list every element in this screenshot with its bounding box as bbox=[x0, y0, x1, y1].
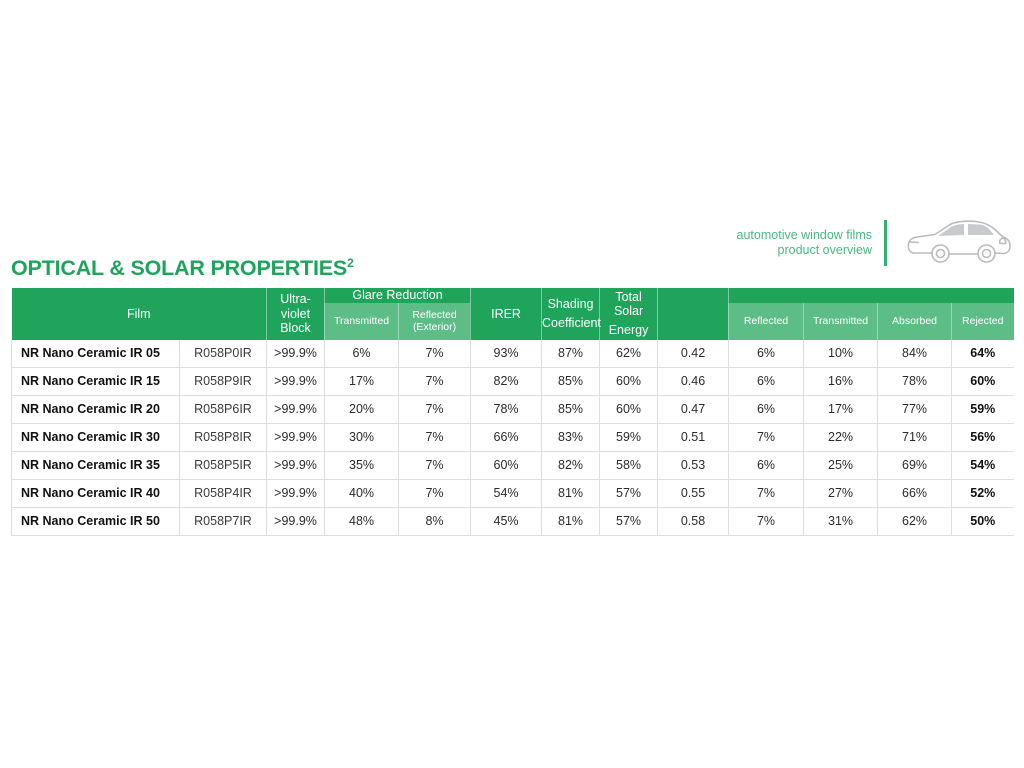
cell-tse-reflected: 7% bbox=[729, 507, 804, 535]
subheader-vl-reflected-exterior-label: Reflected (Exterior) bbox=[412, 309, 456, 334]
header-glare-reduction: IRER bbox=[471, 288, 542, 340]
cell-shading-coefficient: 0.42 bbox=[658, 340, 729, 368]
subheader-vl-reflected-exterior: Reflected (Exterior) bbox=[399, 303, 471, 340]
cell-vl-transmitted: 48% bbox=[325, 507, 399, 535]
cell-tse-rejected: 54% bbox=[952, 451, 1014, 479]
header-sirr-label: Shading Coefficient bbox=[542, 297, 601, 330]
cell-tse-rejected: 64% bbox=[952, 340, 1014, 368]
cell-uv-block: >99.9% bbox=[267, 507, 325, 535]
cell-uv-block: >99.9% bbox=[267, 479, 325, 507]
cell-tse-transmitted: 17% bbox=[804, 395, 878, 423]
cell-film-name: NR Nano Ceramic IR 20 bbox=[12, 395, 180, 423]
header-total-solar-energy bbox=[729, 288, 1014, 303]
cell-vl-transmitted: 30% bbox=[325, 423, 399, 451]
cell-tse-reflected: 6% bbox=[729, 340, 804, 368]
cell-film-name: NR Nano Ceramic IR 05 bbox=[12, 340, 180, 368]
cell-glare-reduction: 82% bbox=[471, 367, 542, 395]
cell-irer: 60% bbox=[600, 367, 658, 395]
table-row: NR Nano Ceramic IR 50R058P7IR>99.9%48%8%… bbox=[12, 507, 1014, 535]
cell-vl-reflected: 7% bbox=[399, 340, 471, 368]
table-header-group-row: Film Ultra- violet Block Glare Reduction… bbox=[12, 288, 1014, 303]
cell-vl-reflected: 7% bbox=[399, 451, 471, 479]
cell-tse-rejected: 50% bbox=[952, 507, 1014, 535]
table-body: NR Nano Ceramic IR 05R058P0IR>99.9%6%7%9… bbox=[12, 340, 1014, 536]
cell-film-name: NR Nano Ceramic IR 50 bbox=[12, 507, 180, 535]
cell-vl-reflected: 8% bbox=[399, 507, 471, 535]
cell-sirr: 85% bbox=[542, 367, 600, 395]
cell-vl-transmitted: 17% bbox=[325, 367, 399, 395]
table-row: NR Nano Ceramic IR 05R058P0IR>99.9%6%7%9… bbox=[12, 340, 1014, 368]
cell-shading-coefficient: 0.47 bbox=[658, 395, 729, 423]
cell-uv-block: >99.9% bbox=[267, 395, 325, 423]
cell-tse-transmitted: 22% bbox=[804, 423, 878, 451]
cell-shading-coefficient: 0.55 bbox=[658, 479, 729, 507]
cell-part-number: R058P5IR bbox=[180, 451, 267, 479]
cell-tse-absorbed: 69% bbox=[878, 451, 952, 479]
cell-tse-transmitted: 25% bbox=[804, 451, 878, 479]
cell-uv-block: >99.9% bbox=[267, 340, 325, 368]
brand-tagline-line2: product overview bbox=[714, 243, 872, 258]
brand-tagline-line1: automotive window films bbox=[714, 228, 872, 243]
cell-sirr: 87% bbox=[542, 340, 600, 368]
cell-uv-block: >99.9% bbox=[267, 423, 325, 451]
header-shading-coefficient bbox=[658, 288, 729, 340]
table-row: NR Nano Ceramic IR 20R058P6IR>99.9%20%7%… bbox=[12, 395, 1014, 423]
cell-irer: 58% bbox=[600, 451, 658, 479]
cell-uv-block: >99.9% bbox=[267, 451, 325, 479]
header-irer-label: Total Solar Energy bbox=[609, 290, 649, 337]
table-row: NR Nano Ceramic IR 30R058P8IR>99.9%30%7%… bbox=[12, 423, 1014, 451]
cell-tse-absorbed: 77% bbox=[878, 395, 952, 423]
table-row: NR Nano Ceramic IR 40R058P4IR>99.9%40%7%… bbox=[12, 479, 1014, 507]
cell-shading-coefficient: 0.58 bbox=[658, 507, 729, 535]
cell-uv-block: >99.9% bbox=[267, 367, 325, 395]
cell-tse-reflected: 6% bbox=[729, 367, 804, 395]
cell-tse-transmitted: 10% bbox=[804, 340, 878, 368]
header-visible-light: Glare Reduction bbox=[325, 288, 471, 303]
cell-glare-reduction: 93% bbox=[471, 340, 542, 368]
cell-film-name: NR Nano Ceramic IR 40 bbox=[12, 479, 180, 507]
cell-sirr: 81% bbox=[542, 479, 600, 507]
cell-tse-absorbed: 78% bbox=[878, 367, 952, 395]
page-title-superscript: 2 bbox=[347, 256, 353, 270]
subheader-tse-reflected: Reflected bbox=[729, 303, 804, 340]
header-uv-block-label: Ultra- violet Block bbox=[280, 292, 311, 335]
header-sirr: Shading Coefficient bbox=[542, 288, 600, 340]
cell-irer: 59% bbox=[600, 423, 658, 451]
cell-glare-reduction: 60% bbox=[471, 451, 542, 479]
cell-sirr: 82% bbox=[542, 451, 600, 479]
cell-tse-reflected: 6% bbox=[729, 395, 804, 423]
cell-part-number: R058P9IR bbox=[180, 367, 267, 395]
cell-tse-transmitted: 27% bbox=[804, 479, 878, 507]
cell-tse-absorbed: 71% bbox=[878, 423, 952, 451]
cell-vl-reflected: 7% bbox=[399, 423, 471, 451]
car-side-icon bbox=[905, 216, 1013, 271]
cell-part-number: R058P7IR bbox=[180, 507, 267, 535]
cell-irer: 57% bbox=[600, 479, 658, 507]
cell-tse-rejected: 56% bbox=[952, 423, 1014, 451]
cell-tse-transmitted: 31% bbox=[804, 507, 878, 535]
cell-tse-reflected: 6% bbox=[729, 451, 804, 479]
cell-glare-reduction: 78% bbox=[471, 395, 542, 423]
cell-part-number: R058P6IR bbox=[180, 395, 267, 423]
cell-part-number: R058P8IR bbox=[180, 423, 267, 451]
cell-film-name: NR Nano Ceramic IR 35 bbox=[12, 451, 180, 479]
cell-shading-coefficient: 0.46 bbox=[658, 367, 729, 395]
header-uv-block: Ultra- violet Block bbox=[267, 288, 325, 340]
subheader-tse-transmitted: Transmitted bbox=[804, 303, 878, 340]
header-irer: Total Solar Energy bbox=[600, 288, 658, 340]
cell-part-number: R058P0IR bbox=[180, 340, 267, 368]
cell-tse-rejected: 52% bbox=[952, 479, 1014, 507]
cell-vl-transmitted: 35% bbox=[325, 451, 399, 479]
subheader-tse-rejected: Rejected bbox=[952, 303, 1014, 340]
cell-vl-reflected: 7% bbox=[399, 367, 471, 395]
brand-tagline: automotive window films product overview bbox=[714, 228, 884, 258]
cell-tse-transmitted: 16% bbox=[804, 367, 878, 395]
cell-irer: 57% bbox=[600, 507, 658, 535]
page-title-text: OPTICAL & SOLAR PROPERTIES bbox=[11, 256, 347, 280]
cell-sirr: 85% bbox=[542, 395, 600, 423]
cell-irer: 62% bbox=[600, 340, 658, 368]
table-row: NR Nano Ceramic IR 15R058P9IR>99.9%17%7%… bbox=[12, 367, 1014, 395]
brand-divider bbox=[884, 220, 887, 266]
cell-film-name: NR Nano Ceramic IR 15 bbox=[12, 367, 180, 395]
cell-vl-reflected: 7% bbox=[399, 395, 471, 423]
cell-tse-absorbed: 62% bbox=[878, 507, 952, 535]
optical-solar-properties-table: Film Ultra- violet Block Glare Reduction… bbox=[11, 288, 1014, 536]
page-title: OPTICAL & SOLAR PROPERTIES2 bbox=[11, 256, 354, 281]
cell-tse-reflected: 7% bbox=[729, 423, 804, 451]
cell-glare-reduction: 54% bbox=[471, 479, 542, 507]
cell-irer: 60% bbox=[600, 395, 658, 423]
cell-vl-transmitted: 6% bbox=[325, 340, 399, 368]
cell-tse-absorbed: 84% bbox=[878, 340, 952, 368]
cell-vl-reflected: 7% bbox=[399, 479, 471, 507]
cell-sirr: 83% bbox=[542, 423, 600, 451]
subheader-tse-absorbed: Absorbed bbox=[878, 303, 952, 340]
brand-block: automotive window films product overview bbox=[714, 214, 1014, 272]
cell-shading-coefficient: 0.53 bbox=[658, 451, 729, 479]
table-row: NR Nano Ceramic IR 35R058P5IR>99.9%35%7%… bbox=[12, 451, 1014, 479]
cell-tse-rejected: 60% bbox=[952, 367, 1014, 395]
cell-glare-reduction: 45% bbox=[471, 507, 542, 535]
cell-vl-transmitted: 20% bbox=[325, 395, 399, 423]
cell-glare-reduction: 66% bbox=[471, 423, 542, 451]
cell-part-number: R058P4IR bbox=[180, 479, 267, 507]
cell-tse-reflected: 7% bbox=[729, 479, 804, 507]
header-glare-reduction-label: IRER bbox=[491, 307, 521, 321]
header-film: Film bbox=[12, 288, 267, 340]
cell-shading-coefficient: 0.51 bbox=[658, 423, 729, 451]
subheader-vl-transmitted: Transmitted bbox=[325, 303, 399, 340]
cell-vl-transmitted: 40% bbox=[325, 479, 399, 507]
cell-film-name: NR Nano Ceramic IR 30 bbox=[12, 423, 180, 451]
cell-tse-absorbed: 66% bbox=[878, 479, 952, 507]
cell-tse-rejected: 59% bbox=[952, 395, 1014, 423]
table-header: Film Ultra- violet Block Glare Reduction… bbox=[12, 288, 1014, 340]
cell-sirr: 81% bbox=[542, 507, 600, 535]
